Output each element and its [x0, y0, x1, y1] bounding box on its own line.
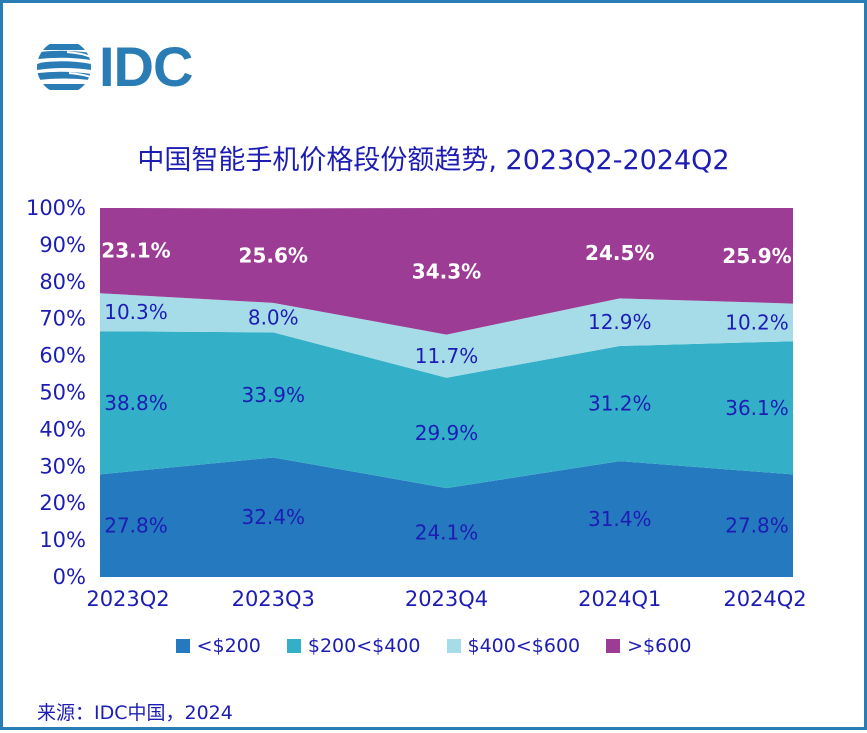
y-axis-tick-label: 30% [39, 454, 86, 478]
legend-label: <$200 [197, 635, 261, 657]
y-axis-tick-label: 10% [39, 528, 86, 552]
data-label: 12.9% [588, 310, 652, 334]
chart-legend: <$200$200<$400$400<$600>$600 [3, 635, 864, 657]
legend-swatch-icon [287, 639, 301, 653]
data-label: 34.3% [412, 259, 481, 283]
data-label: 38.8% [104, 391, 168, 415]
data-label: 10.3% [104, 300, 168, 324]
data-label: 27.8% [104, 514, 168, 538]
area-band [100, 331, 793, 488]
legend-swatch-icon [606, 639, 620, 653]
source-note: 来源：IDC中国，2024 [37, 698, 233, 725]
data-label: 25.6% [239, 244, 308, 268]
globe-icon [33, 38, 95, 96]
y-axis-tick-label: 100% [26, 196, 86, 220]
stacked-area-chart: 0%10%20%30%40%50%60%70%80%90%100%2023Q22… [3, 3, 867, 733]
data-label: 24.5% [585, 241, 654, 265]
data-label: 10.2% [725, 310, 789, 334]
area-band [100, 457, 793, 577]
legend-swatch-icon [447, 639, 461, 653]
x-axis: 2023Q22023Q32023Q42024Q12024Q2 [86, 587, 806, 611]
y-axis-tick-label: 70% [39, 307, 86, 331]
chart-title: 中国智能手机价格段份额趋势, 2023Q2-2024Q2 [3, 138, 864, 177]
y-axis: 0%10%20%30%40%50%60%70%80%90%100% [26, 196, 86, 589]
data-label: 24.1% [415, 521, 479, 545]
data-label: 25.9% [722, 244, 791, 268]
y-axis-tick-label: 90% [39, 233, 86, 257]
legend-item[interactable]: $400<$600 [447, 635, 581, 657]
x-axis-tick-label: 2023Q3 [232, 587, 315, 611]
data-label: 31.4% [588, 507, 652, 531]
legend-item[interactable]: $200<$400 [287, 635, 421, 657]
chart-data-labels: 27.8%32.4%24.1%31.4%27.8%38.8%33.9%29.9%… [101, 239, 791, 545]
y-axis-tick-label: 20% [39, 491, 86, 515]
y-axis-tick-label: 80% [39, 270, 86, 294]
data-label: 8.0% [248, 306, 299, 330]
data-label: 23.1% [101, 239, 170, 263]
y-axis-tick-label: 0% [53, 565, 86, 589]
y-axis-tick-label: 60% [39, 344, 86, 368]
area-band [100, 293, 793, 378]
legend-label: >$600 [627, 635, 691, 657]
area-band [100, 208, 793, 335]
x-axis-tick-label: 2024Q1 [578, 587, 661, 611]
legend-label: $200<$400 [308, 635, 421, 657]
idc-logo: IDC [33, 39, 192, 95]
y-axis-tick-label: 50% [39, 381, 86, 405]
chart-bands [100, 208, 793, 577]
data-label: 36.1% [725, 396, 789, 420]
data-label: 31.2% [588, 392, 652, 416]
x-axis-tick-label: 2024Q2 [723, 587, 806, 611]
data-label: 32.4% [241, 505, 305, 529]
logo-wordmark: IDC [99, 39, 192, 95]
chart-page: IDC 中国智能手机价格段份额趋势, 2023Q2-2024Q2 0%10%20… [0, 0, 867, 730]
data-label: 11.7% [415, 344, 479, 368]
legend-item[interactable]: <$200 [176, 635, 261, 657]
legend-swatch-icon [176, 639, 190, 653]
data-label: 27.8% [725, 514, 789, 538]
x-axis-tick-label: 2023Q4 [405, 587, 488, 611]
y-axis-tick-label: 40% [39, 417, 86, 441]
legend-label: $400<$600 [468, 635, 581, 657]
x-axis-tick-label: 2023Q2 [86, 587, 169, 611]
legend-item[interactable]: >$600 [606, 635, 691, 657]
data-label: 33.9% [241, 383, 305, 407]
data-label: 29.9% [415, 421, 479, 445]
